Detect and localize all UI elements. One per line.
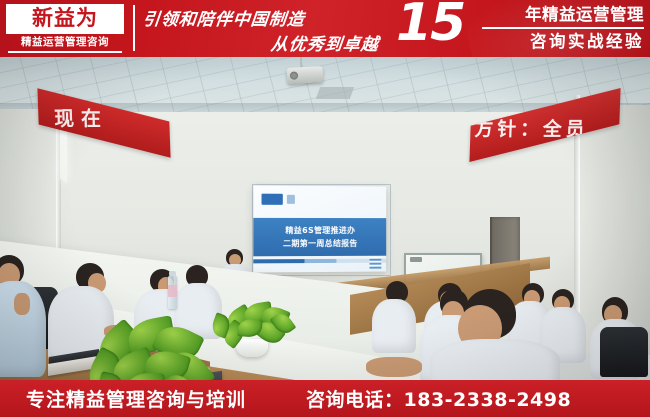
plant-pot [236,339,268,357]
projector-lens-icon [290,71,298,79]
header-banner: 新益为 精益运营管理咨询 引领和陪伴中国制造 从优秀到卓越 15 年精益运营管理… [0,0,650,57]
meeting-room-photo: 现在 方针：全员 精益6S管理推进办 二期第一周总结报告 [0,57,650,380]
ceiling-vent [316,87,354,99]
years-line-2: 咨询实战经验 [482,30,644,53]
header-slogan: 引领和陪伴中国制造 从优秀到卓越 [143,3,383,55]
bottle-cap [169,271,176,276]
footer-phone[interactable]: 咨询电话：183-2338-2498 [306,385,571,412]
person-arm [366,357,422,377]
bottle-label [168,285,177,297]
logo-subtitle: 精益运营管理咨询 [6,35,124,50]
slide-title-band: 精益6S管理推进办 二期第一周总结报告 [253,218,386,256]
projection-screen: 精益6S管理推进办 二期第一周总结报告 [253,186,386,273]
person-hand [14,293,30,315]
header-experience-block: 15 年精益运营管理 咨询实战经验 [384,1,644,56]
slogan-line-2: 从优秀到卓越 [270,30,381,55]
footer-tagline: 专注精益管理咨询与培训 [26,385,246,412]
person-body [372,299,416,353]
slide-bottom-bar [253,259,386,264]
logo-underline [8,51,122,53]
years-line-1: 年精益运营管理 [482,3,644,26]
slide-logo-icon [262,194,283,205]
years-number: 15 [396,0,464,49]
person-body [430,339,560,380]
header-divider [133,5,135,51]
slide-title-line-1: 精益6S管理推进办 [285,224,355,237]
whiteboard-marker-icon [410,257,422,262]
logo-mark-text: 新益为 [9,5,121,31]
chair [600,327,648,377]
footer-banner: 专注精益管理咨询与培训 咨询电话：183-2338-2498 [0,380,650,417]
brand-logo[interactable]: 新益为 精益运营管理咨询 [6,4,124,54]
years-rule [482,27,644,29]
slide-title-line-2: 二期第一周总结报告 [283,237,358,250]
years-text-block: 年精益运营管理 咨询实战经验 [482,3,644,53]
projector [287,66,324,84]
slide-qr-code-icon [370,257,382,269]
slogan-line-1: 引领和陪伴中国制造 [142,5,307,30]
wall-banner-left-text: 现在 [54,102,109,131]
slide-secondary-logo-icon [287,195,295,204]
page-root: 新益为 精益运营管理咨询 引领和陪伴中国制造 从优秀到卓越 15 年精益运营管理… [0,0,650,417]
